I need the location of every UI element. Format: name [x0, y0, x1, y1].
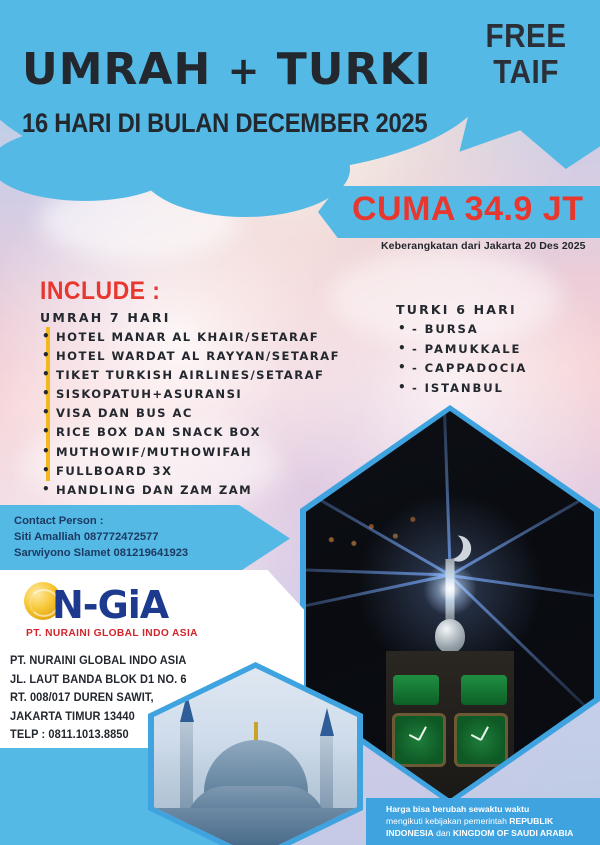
- contact-block: Contact Person : Siti Amalliah 087772472…: [14, 513, 188, 561]
- list-item: SISKOPATUH+ASURANSI: [40, 385, 380, 404]
- poster-root: FREE TAIF UMRAH + TURKI 16 HARI DI BULAN…: [0, 0, 600, 845]
- tower-orb: [435, 619, 465, 653]
- badge-line-1: FREE: [476, 18, 577, 54]
- address-line: RT. 008/017 DUREN SAWIT,: [10, 689, 187, 708]
- turki-item-list: - BURSA - PAMUKKALE - CAPPADOCIA - ISTAN…: [396, 320, 596, 398]
- list-item: FULLBOARD 3X: [40, 462, 380, 481]
- list-item: MUTHOWIF/MUTHOWIFAH: [40, 443, 380, 462]
- badge-line-2: TAIF: [476, 54, 577, 90]
- list-item: - CAPPADOCIA: [396, 359, 596, 379]
- title-turki: TURKI: [277, 44, 432, 95]
- umrah-package-column: UMRAH 7 HARI HOTEL MANAR AL KHAIR/SETARA…: [40, 310, 380, 500]
- list-item: - PAMUKKALE: [396, 340, 596, 360]
- disclaimer-line-2-bold: REPUBLIK: [509, 816, 553, 826]
- list-item: TIKET TURKISH AIRLINES/SETARAF: [40, 366, 380, 385]
- price-amount: CUMA 34.9 JT: [352, 190, 583, 229]
- logo-tagline: PT. NURAINI GLOBAL INDO ASIA: [26, 628, 198, 639]
- turki-column-title: TURKI 6 HARI: [396, 302, 596, 317]
- list-item: - ISTANBUL: [396, 379, 596, 399]
- disclaimer-line-3-bold-2: KINGDOM OF SAUDI ARABIA: [453, 828, 573, 838]
- list-item: - BURSA: [396, 320, 596, 340]
- include-heading: INCLUDE :: [40, 277, 160, 306]
- contact-person-1[interactable]: Siti Amalliah 087772472577: [14, 529, 188, 545]
- disclaimer-line-1: Harga bisa berubah sewaktu waktu: [386, 804, 529, 814]
- calligraphy-plate: [461, 675, 507, 705]
- umrah-item-list: HOTEL MANAR AL KHAIR/SETARAF HOTEL WARDA…: [40, 328, 380, 500]
- contact-label: Contact Person :: [14, 513, 188, 529]
- disclaimer-line-2-lite: mengikuti kebijakan pemerintah: [386, 816, 509, 826]
- clock-face: [392, 713, 446, 767]
- umrah-column-title: UMRAH 7 HARI: [40, 310, 380, 325]
- free-taif-badge: FREE TAIF: [476, 18, 577, 89]
- page-title: UMRAH + TURKI: [22, 44, 432, 95]
- contact-person-2[interactable]: Sarwiyono Slamet 081219641923: [14, 545, 188, 561]
- logo-wordmark: N-GiA: [52, 583, 168, 627]
- light-flare: [423, 562, 477, 616]
- list-item: HOTEL MANAR AL KHAIR/SETARAF: [40, 328, 380, 347]
- title-umrah: UMRAH: [22, 44, 211, 95]
- page-subtitle: 16 HARI DI BULAN DECEMBER 2025: [22, 108, 427, 139]
- list-item: HOTEL WARDAT AL RAYYAN/SETARAF: [40, 347, 380, 366]
- list-item: VISA DAN BUS AC: [40, 404, 380, 423]
- disclaimer-text: Harga bisa berubah sewaktu waktu mengiku…: [386, 803, 596, 840]
- address-line: PT. NURAINI GLOBAL INDO ASIA: [10, 652, 187, 671]
- clock-face: [454, 713, 508, 767]
- disclaimer-line-3-bold-1: INDONESIA: [386, 828, 434, 838]
- title-plus-icon: +: [228, 49, 261, 93]
- address-line: JL. LAUT BANDA BLOK D1 NO. 6: [10, 671, 187, 690]
- turki-package-column: TURKI 6 HARI - BURSA - PAMUKKALE - CAPPA…: [396, 302, 596, 398]
- departure-note: Keberangkatan dari Jakarta 20 Des 2025: [381, 240, 586, 252]
- calligraphy-plate: [393, 675, 439, 705]
- list-item: RICE BOX DAN SNACK BOX: [40, 423, 380, 442]
- disclaimer-line-3-lite: dan: [434, 828, 453, 838]
